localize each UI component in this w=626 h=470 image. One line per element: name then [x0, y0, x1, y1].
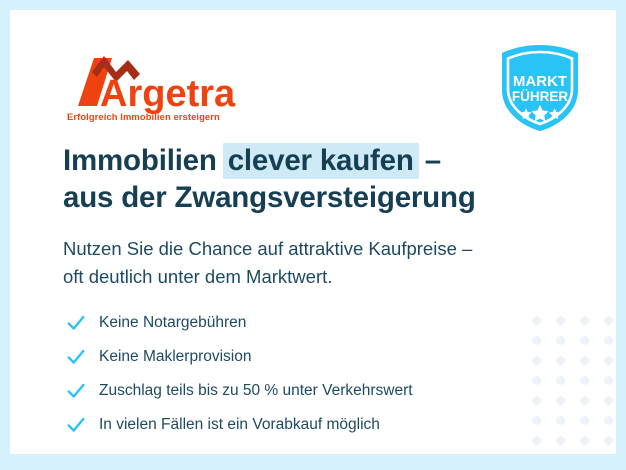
dot [604, 356, 613, 365]
check-icon [65, 380, 87, 402]
list-item: Keine Notargebühren [65, 308, 535, 338]
dot [604, 376, 613, 385]
subheadline-line-2: oft deutlich unter dem Marktwert. [63, 263, 563, 291]
subheadline-line-1: Nutzen Sie die Chance auf attraktive Kau… [63, 235, 563, 263]
list-item: Keine Maklerprovision [65, 342, 535, 372]
dot [580, 396, 589, 405]
dot [580, 376, 589, 385]
badge-line2: FÜHRER [512, 89, 568, 104]
argetra-tagline: Erfolgreich Immobilien ersteigern [67, 111, 220, 122]
check-icon [65, 312, 87, 334]
promo-card: Argetra Erfolgreich Immobilien ersteiger… [10, 10, 616, 454]
dot [580, 356, 589, 365]
dot [556, 376, 565, 385]
list-item-label: Keine Notargebühren [99, 313, 246, 333]
dot [580, 416, 589, 425]
dot [556, 416, 565, 425]
dot [604, 416, 613, 425]
list-item-label: Zuschlag teils bis zu 50 % unter Verkehr… [99, 381, 413, 401]
page-border-frame: Argetra Erfolgreich Immobilien ersteiger… [0, 0, 626, 470]
list-item: In vielen Fällen ist ein Vorabkauf mögli… [65, 410, 535, 440]
dot [580, 316, 589, 325]
headline-line-1: Immobilien clever kaufen – [63, 142, 563, 179]
check-icon [65, 414, 87, 436]
dot-grid-decoration [524, 310, 616, 454]
subheadline: Nutzen Sie die Chance auf attraktive Kau… [63, 235, 563, 291]
headline-post: – [417, 144, 441, 177]
dot [556, 356, 565, 365]
dot [556, 436, 565, 445]
dot [556, 316, 565, 325]
argetra-logo-svg: Argetra Erfolgreich Immobilien ersteiger… [64, 54, 264, 124]
headline-pre: Immobilien [63, 144, 225, 177]
headline: Immobilien clever kaufen – aus der Zwang… [63, 142, 563, 216]
dot [580, 436, 589, 445]
headline-line-2: aus der Zwangsversteigerung [63, 179, 563, 216]
list-item: Zuschlag teils bis zu 50 % unter Verkehr… [65, 376, 535, 406]
check-icon [65, 346, 87, 368]
argetra-wordmark: Argetra [100, 73, 236, 115]
dot [604, 336, 613, 345]
dot [556, 336, 565, 345]
badge-svg: MARKT FÜHRER [494, 42, 586, 134]
badge-line1: MARKT [513, 73, 567, 90]
list-item-label: Keine Maklerprovision [99, 347, 252, 367]
dot [604, 396, 613, 405]
dot [604, 316, 613, 325]
headline-highlight: clever kaufen [223, 143, 419, 179]
dot [604, 436, 613, 445]
benefit-list: Keine Notargebühren Keine Maklerprovisio… [65, 308, 535, 444]
dot [580, 336, 589, 345]
markt-fuehrer-badge: MARKT FÜHRER [494, 42, 586, 134]
dot [556, 396, 565, 405]
argetra-logo: Argetra Erfolgreich Immobilien ersteiger… [64, 54, 264, 124]
list-item-label: In vielen Fällen ist ein Vorabkauf mögli… [99, 415, 380, 435]
